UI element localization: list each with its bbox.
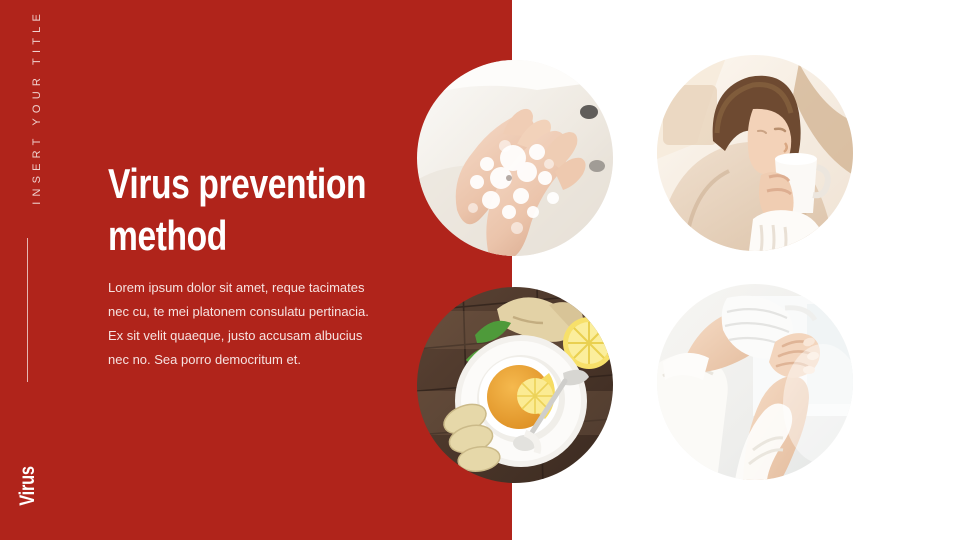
slide-canvas: INSERT YOUR TITLE Virus Virus prevention… (0, 0, 960, 540)
body-paragraph: Lorem ipsum dolor sit amet, reque tacima… (108, 276, 378, 372)
photo-ginger-lemon-tea (417, 287, 613, 483)
girl-drinking-illustration (657, 55, 853, 251)
vertical-footer-label: Virus (16, 462, 40, 510)
photo-girl-drinking-tea (657, 55, 853, 251)
page-title: Virus prevention method (108, 158, 372, 262)
ginger-tea-illustration (417, 287, 613, 483)
vertical-slide-title: INSERT YOUR TITLE (31, 9, 43, 209)
photo-face-mask (657, 284, 853, 480)
left-accent-panel (0, 0, 512, 540)
vertical-divider-rule (27, 238, 28, 382)
face-mask-illustration (657, 284, 853, 480)
photo-handwashing (417, 60, 613, 256)
handwashing-illustration (417, 60, 613, 256)
